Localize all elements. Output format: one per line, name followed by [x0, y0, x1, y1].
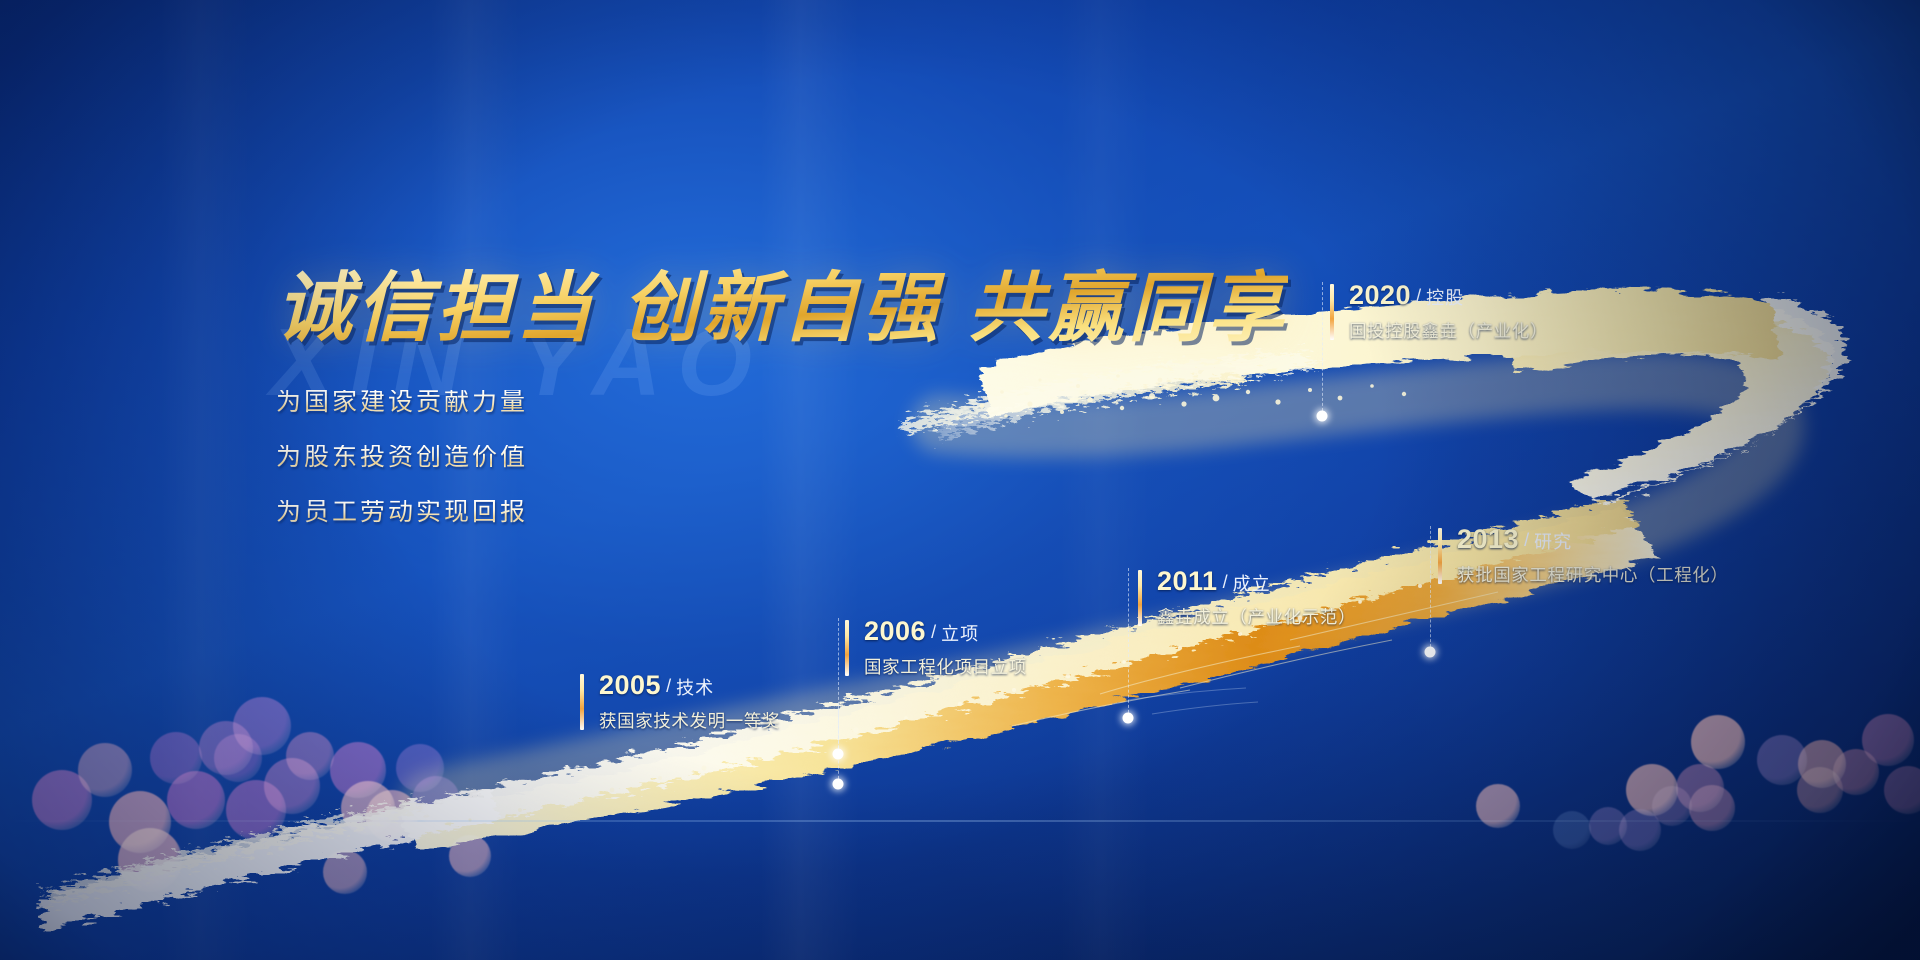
- bokeh-circle: [214, 734, 262, 782]
- bokeh-circle: [199, 721, 253, 775]
- bokeh-circle: [1626, 764, 1678, 816]
- milestone-description: 国家工程化项目立项: [864, 659, 1027, 677]
- bokeh-circle: [1862, 714, 1914, 766]
- milestone-2005[interactable]: 2005/技术获国家技术发明一等奖: [580, 672, 780, 731]
- milestone-leader-line: [1430, 526, 1431, 652]
- milestone-accent-bar: [1438, 528, 1442, 584]
- milestone-tag: 成立: [1233, 574, 1271, 594]
- bokeh-circle: [1691, 715, 1745, 769]
- milestone-text: 2011/成立鑫垚成立（产业化示范）: [1138, 568, 1356, 627]
- milestone-leader-line: [1128, 568, 1129, 718]
- bokeh-circle: [78, 743, 132, 797]
- bokeh-circle: [233, 697, 291, 755]
- bokeh-circle: [449, 835, 491, 877]
- milestone-node-dot[interactable]: [1123, 713, 1134, 724]
- milestone-year: 2011: [1157, 566, 1218, 596]
- bokeh-circle: [109, 791, 171, 853]
- milestone-tag: 研究: [1534, 532, 1572, 552]
- milestone-node-dot[interactable]: [833, 749, 844, 760]
- milestone-node-dot[interactable]: [1425, 647, 1436, 658]
- milestone-heading: 2006/立项: [864, 618, 1027, 645]
- bokeh-circle: [341, 781, 395, 835]
- milestone-leader-line: [1322, 282, 1323, 416]
- bokeh-circle: [323, 850, 367, 894]
- milestone-text: 2013/研究获批国家工程研究中心（工程化）: [1438, 526, 1729, 585]
- milestone-description: 获批国家工程研究中心（工程化）: [1457, 567, 1729, 585]
- slogan-item: 为员工劳动实现回报: [276, 500, 1288, 525]
- milestone-separator: /: [1416, 286, 1421, 306]
- milestone-text: 2006/立项国家工程化项目立项: [845, 618, 1027, 677]
- bokeh-circle: [167, 771, 225, 829]
- milestone-separator: /: [666, 676, 671, 696]
- bokeh-circle: [366, 790, 418, 842]
- milestone-year: 2006: [864, 616, 926, 646]
- bokeh-circle: [1619, 809, 1661, 851]
- bokeh-circle: [1833, 749, 1879, 795]
- bokeh-circle: [1676, 764, 1724, 812]
- title-part-3: 共赢同享: [968, 266, 1288, 351]
- bokeh-circle: [1476, 784, 1520, 828]
- milestone-separator: /: [931, 622, 936, 642]
- milestone-accent-bar: [580, 674, 584, 730]
- milestone-year: 2020: [1349, 280, 1411, 310]
- page-title: 诚信担当创新自强共赢同享: [276, 246, 1288, 356]
- bokeh-circle: [1797, 767, 1843, 813]
- milestone-leader-line: [838, 618, 839, 754]
- milestone-2013[interactable]: 2013/研究获批国家工程研究中心（工程化）: [1438, 526, 1729, 585]
- milestone-heading: 2005/技术: [599, 672, 780, 699]
- milestone-description: 鑫垚成立（产业化示范）: [1157, 609, 1356, 627]
- milestone-description: 国投控股鑫垚（产业化）: [1349, 323, 1548, 341]
- milestone-heading: 2011/成立: [1157, 568, 1356, 595]
- milestone-tag: 控股: [1426, 288, 1464, 308]
- bokeh-circle: [264, 758, 320, 814]
- slogan-item: 为股东投资创造价值: [276, 445, 1288, 470]
- milestone-description: 获国家技术发明一等奖: [599, 713, 780, 731]
- slogan-item: 为国家建设贡献力量: [276, 390, 1288, 415]
- milestone-tag: 立项: [941, 624, 979, 644]
- milestone-heading: 2020/控股: [1349, 282, 1548, 309]
- milestone-2006[interactable]: 2006/立项国家工程化项目立项: [845, 618, 1027, 677]
- bokeh-circle: [150, 732, 202, 784]
- bokeh-circle: [1798, 740, 1846, 788]
- milestone-heading: 2013/研究: [1457, 526, 1729, 553]
- milestone-accent-bar: [1330, 284, 1334, 340]
- bokeh-circle: [412, 776, 460, 824]
- bokeh-circle: [1652, 786, 1692, 826]
- milestone-2011[interactable]: 2011/成立鑫垚成立（产业化示范）: [1138, 568, 1356, 627]
- milestone-text: 2005/技术获国家技术发明一等奖: [580, 672, 780, 731]
- milestone-separator: /: [1524, 530, 1529, 550]
- milestone-node-dot[interactable]: [1317, 411, 1328, 422]
- bokeh-circle: [1689, 785, 1735, 831]
- milestone-text: 2020/控股国投控股鑫垚（产业化）: [1330, 282, 1548, 341]
- milestone-node-dot[interactable]: [833, 779, 844, 790]
- bokeh-circle: [118, 828, 182, 892]
- milestone-2020[interactable]: 2020/控股国投控股鑫垚（产业化）: [1330, 282, 1548, 341]
- milestone-tag: 技术: [676, 678, 714, 698]
- bokeh-circle: [226, 780, 286, 840]
- bokeh-circle: [330, 742, 386, 798]
- milestone-accent-bar: [1138, 570, 1142, 626]
- bokeh-circle: [32, 770, 92, 830]
- bokeh-circle: [1884, 766, 1920, 814]
- horizon-line: [0, 820, 1920, 822]
- title-block: XIN YAO 诚信担当创新自强共赢同享 为国家建设贡献力量 为股东投资创造价值…: [276, 246, 1288, 525]
- bokeh-circle: [1589, 807, 1627, 845]
- milestone-year: 2013: [1457, 524, 1519, 554]
- milestone-separator: /: [1223, 572, 1228, 592]
- bokeh-circle: [1757, 735, 1807, 785]
- banner-stage: XIN YAO 诚信担当创新自强共赢同享 为国家建设贡献力量 为股东投资创造价值…: [0, 0, 1920, 960]
- title-part-2: 创新自强: [622, 266, 942, 351]
- milestone-accent-bar: [845, 620, 849, 676]
- bokeh-circle: [1553, 811, 1591, 849]
- milestone-year: 2005: [599, 670, 661, 700]
- bokeh-circle: [396, 744, 444, 792]
- bokeh-circle: [286, 732, 334, 780]
- slogan-list: 为国家建设贡献力量 为股东投资创造价值 为员工劳动实现回报: [276, 390, 1288, 525]
- title-part-1: 诚信担当: [276, 266, 596, 351]
